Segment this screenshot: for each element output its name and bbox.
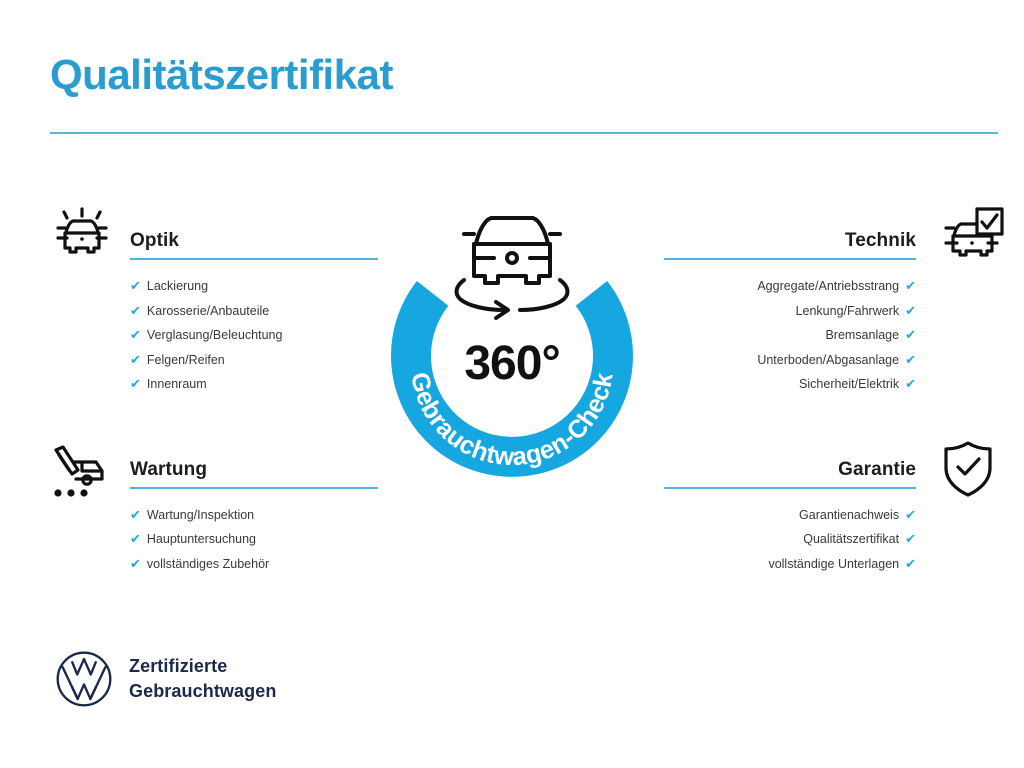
section-garantie-title: Garantie bbox=[838, 459, 916, 481]
list-item-label: Wartung/Inspektion bbox=[147, 508, 254, 522]
section-technik-rule bbox=[664, 258, 916, 260]
check-icon: ✔ bbox=[905, 503, 916, 527]
list-item: Sicherheit/Elektrik✔ bbox=[618, 372, 916, 397]
list-item: Aggregate/Antriebsstrang✔ bbox=[618, 274, 916, 299]
check-icon: ✔ bbox=[130, 552, 141, 576]
list-item-label: Karosserie/Anbauteile bbox=[147, 304, 269, 318]
list-item: Lenkung/Fahrwerk✔ bbox=[618, 299, 916, 324]
check-icon: ✔ bbox=[905, 527, 916, 551]
check-icon: ✔ bbox=[905, 348, 916, 372]
list-item-label: vollständiges Zubehör bbox=[147, 557, 269, 571]
section-wartung-list: ✔Wartung/Inspektion ✔Hauptuntersuchung ✔… bbox=[44, 493, 444, 577]
check-icon: ✔ bbox=[130, 372, 141, 396]
badge-curved-text: Gebrauchtwagen-Check bbox=[405, 370, 619, 471]
list-item-label: vollständige Unterlagen bbox=[768, 557, 899, 571]
list-item-label: Qualitätszertifikat bbox=[803, 532, 899, 546]
list-item: Qualitätszertifikat✔ bbox=[618, 527, 916, 552]
section-wartung-rule bbox=[130, 487, 378, 489]
list-item-label: Verglasung/Beleuchtung bbox=[147, 328, 283, 342]
list-item-label: Bremsanlage bbox=[825, 328, 899, 342]
list-item: Garantienachweis✔ bbox=[618, 503, 916, 528]
badge-360-gebrauchtwagen-check: Gebrauchtwagen-Check 360° bbox=[376, 196, 648, 484]
list-item-label: Felgen/Reifen bbox=[147, 353, 225, 367]
section-garantie-rule bbox=[664, 487, 916, 489]
vw-certified-line1: Zertifizierte bbox=[129, 654, 276, 679]
check-icon: ✔ bbox=[905, 274, 916, 298]
certificate-page: Qualitätszertifikat Op bbox=[0, 0, 1024, 768]
list-item-label: Unterboden/Abgasanlage bbox=[757, 353, 899, 367]
check-icon: ✔ bbox=[130, 503, 141, 527]
check-icon: ✔ bbox=[130, 274, 141, 298]
list-item-label: Garantienachweis bbox=[799, 508, 899, 522]
vw-certified-text: Zertifizierte Gebrauchtwagen bbox=[129, 654, 276, 704]
title-divider bbox=[50, 132, 998, 134]
list-item-label: Lenkung/Fahrwerk bbox=[796, 304, 900, 318]
section-wartung-title: Wartung bbox=[130, 459, 207, 481]
vw-certified-footer: Zertifizierte Gebrauchtwagen bbox=[55, 650, 276, 708]
vw-certified-line2: Gebrauchtwagen bbox=[129, 679, 276, 704]
check-icon: ✔ bbox=[130, 323, 141, 347]
section-garantie-list: Garantienachweis✔ Qualitätszertifikat✔ v… bbox=[578, 493, 978, 577]
list-item-label: Hauptuntersuchung bbox=[147, 532, 256, 546]
section-optik-title: Optik bbox=[130, 230, 179, 252]
list-item-label: Sicherheit/Elektrik bbox=[799, 377, 899, 391]
list-item-label: Lackierung bbox=[147, 279, 208, 293]
list-item: Unterboden/Abgasanlage✔ bbox=[618, 348, 916, 373]
section-technik-title: Technik bbox=[845, 230, 916, 252]
page-title: Qualitätszertifikat bbox=[50, 54, 393, 96]
check-icon: ✔ bbox=[905, 323, 916, 347]
list-item: vollständige Unterlagen✔ bbox=[618, 552, 916, 577]
check-icon: ✔ bbox=[130, 527, 141, 551]
vw-logo bbox=[55, 650, 113, 708]
section-optik-rule bbox=[130, 258, 378, 260]
list-item-label: Innenraum bbox=[147, 377, 207, 391]
car-rotate-icon bbox=[457, 218, 568, 318]
list-item: ✔Wartung/Inspektion bbox=[130, 503, 444, 528]
check-icon: ✔ bbox=[130, 348, 141, 372]
list-item: ✔vollständiges Zubehör bbox=[130, 552, 444, 577]
list-item: ✔Hauptuntersuchung bbox=[130, 527, 444, 552]
check-icon: ✔ bbox=[905, 552, 916, 576]
list-item: Bremsanlage✔ bbox=[618, 323, 916, 348]
list-item-label: Aggregate/Antriebsstrang bbox=[757, 279, 899, 293]
check-icon: ✔ bbox=[905, 299, 916, 323]
check-icon: ✔ bbox=[905, 372, 916, 396]
check-icon: ✔ bbox=[130, 299, 141, 323]
